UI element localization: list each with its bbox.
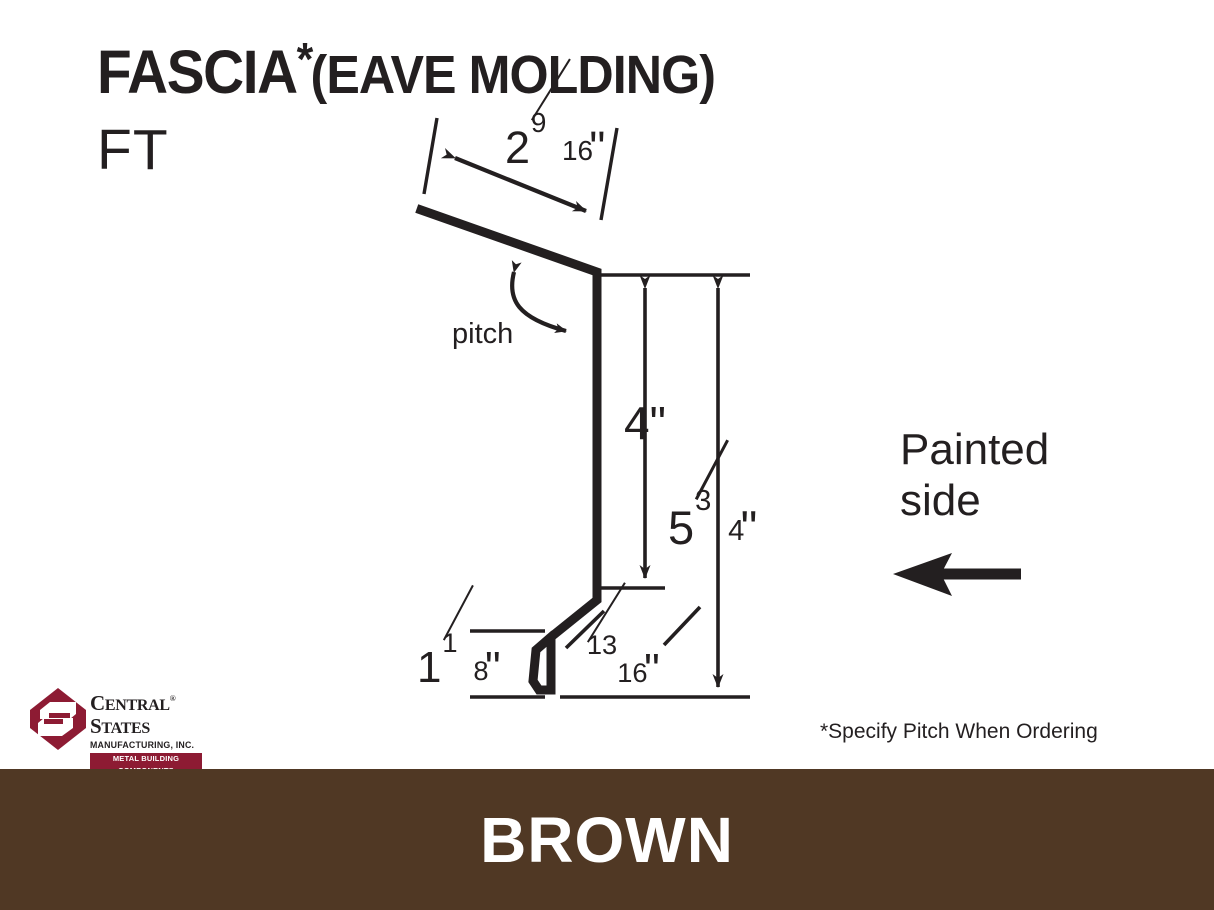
- central-states-diamond-icon: [30, 688, 86, 750]
- painted-side-line1: Painted: [900, 424, 1049, 475]
- dimension-label-2-9-16: 2916": [505, 118, 604, 170]
- logo-line-central: CENTRAL®: [90, 689, 202, 716]
- dimension-label-4in: 4": [624, 400, 664, 446]
- title-parenthetical: (EAVE MOLDING): [311, 45, 716, 105]
- fascia-profile-shape: [421, 210, 597, 690]
- painted-side-label: Painted side: [900, 424, 1049, 526]
- dimension-label-5-3-4: 534": [668, 497, 755, 551]
- title-asterisk: *: [297, 33, 311, 85]
- fraction-9-16: 916: [531, 118, 589, 163]
- color-name-label: BROWN: [480, 803, 734, 877]
- fraction-13-16: 1316: [587, 640, 643, 684]
- logo-wordmark: CENTRAL® STATES MANUFACTURING, INC. META…: [90, 689, 202, 777]
- title-main-word: FASCIA: [97, 38, 297, 106]
- fraction-1-8: 18: [442, 638, 484, 682]
- logo-line-manufacturing: MANUFACTURING, INC.: [90, 739, 200, 751]
- pitch-arc-arrow: [512, 272, 566, 331]
- painted-side-line2: side: [900, 475, 1049, 526]
- product-spec-sheet: FASCIA*(EAVE MOLDING) FT: [0, 0, 1214, 910]
- painted-side-arrow: [893, 553, 1021, 596]
- dimension-label-13-16: 1316": [586, 640, 658, 692]
- footnote-specify-pitch: *Specify Pitch When Ordering: [820, 720, 1098, 744]
- logo-line-states: STATES: [90, 716, 202, 739]
- pitch-label: pitch: [452, 320, 513, 349]
- color-banner: BROWN: [0, 769, 1214, 910]
- company-logo: CENTRAL® STATES MANUFACTURING, INC. META…: [30, 688, 198, 754]
- page-title: FASCIA*(EAVE MOLDING): [97, 28, 860, 106]
- dimension-label-1-1-8: 118": [417, 638, 499, 690]
- fraction-3-4: 34: [695, 497, 740, 544]
